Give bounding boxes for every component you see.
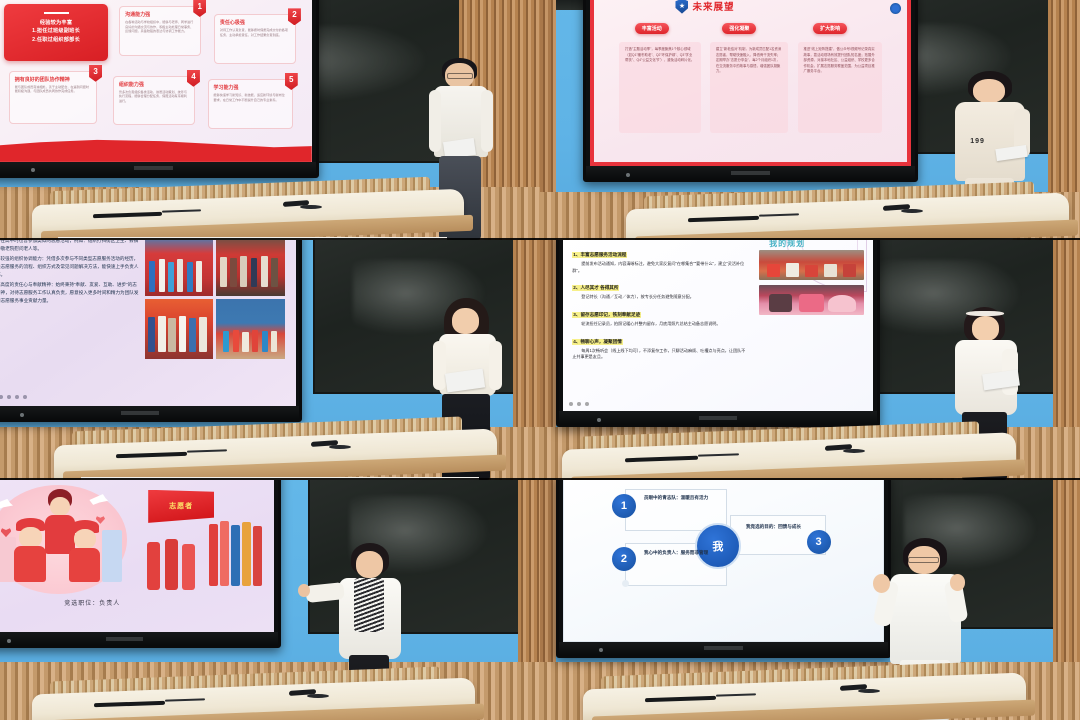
video-grid-stage: 经验较为丰富 1.担任过班级副班长 2.任职过组织部部长 1 沟通能力强 在各种… [0, 0, 1080, 720]
podium-1 [32, 182, 464, 240]
plan-heading-4: 4、畅聊心声，凝聚团情 [572, 339, 623, 345]
badge-rule [44, 12, 69, 14]
slide-header: ★ 未来展望 [675, 0, 734, 14]
outlook-pill-2: 强化凝聚 [722, 23, 756, 34]
display-screen-6[interactable]: 1 2 3 我 员眼中的青志队：温暖且有活力 我心中的负责人：服务而非管理 我竞… [556, 480, 891, 658]
card-title-5: 学习能力强 [214, 84, 287, 91]
head [356, 551, 383, 578]
card-title-1: 沟通能力强 [125, 11, 195, 18]
slide-toolbar[interactable] [0, 395, 27, 399]
slide-title-2: 未来展望 [692, 0, 734, 13]
capability-card-5: 5 学习能力强 能够快速学习新知识、新技能，适应新环境与新岗位要求，在日常工作中… [208, 79, 293, 129]
plan-body-1: 提前发布活动通知，内容清晰标注，避免大家反复问"在哪集合""要带什么"，建立"灵… [572, 261, 749, 274]
plan-body-2: 登记特长（沟通／互动／体力），按专长分任务避免随意分配。 [572, 294, 749, 301]
card-title-4: 组织能力强 [119, 81, 189, 88]
head [452, 308, 479, 334]
paragraph-3: 高度的责任心与奉献精神：始终秉持"奉献、友爱、互助、进步"的志愿精神，对待志愿服… [0, 281, 140, 305]
diagram-label-1: 员眼中的青志队：温暖且有活力 [644, 494, 708, 502]
position-caption: 竞选职位：负责人 [64, 598, 120, 607]
podium-5 [32, 672, 475, 720]
outlook-pill-1: 丰富活动 [635, 23, 669, 34]
badge-heading: 经验较为丰富 [8, 19, 104, 27]
card-body-2: 对待工作认真负责，能够按时保质完成交付的各项任务，主动承担责任，对工作结果负责到… [220, 28, 290, 37]
display-screen-3[interactable]: 在高中时也曾参加类似的志愿活动，例如：组织打扫街区卫生、去镇上的敬老院慰问老人等… [0, 240, 302, 422]
screen-bezel-5 [0, 632, 278, 645]
video-panel-2[interactable]: ★ 未来展望 丰富活动 强化凝聚 扩大影响 打造"主题活动季"，每季度聚焦1个核… [540, 0, 1080, 240]
slide-circle-diagram: 1 2 3 我 员眼中的青志队：温暖且有活力 我心中的负责人：服务而非管理 我竞… [563, 480, 884, 642]
outlook-column-2: 建立"新老结对"机制，为新成员匹配1名资深志愿者，帮助快速融入，降低骨干流失率；… [710, 42, 788, 133]
arm-left [429, 90, 441, 151]
volunteer-illustration [0, 480, 136, 599]
screen-bezel-2 [586, 166, 915, 179]
experience-badge: 经验较为丰富 1.担任过班级副班长 2.任职过组织部部长 [4, 4, 108, 60]
podium-3 [54, 422, 497, 480]
card-title-2: 责任心极强 [220, 19, 290, 26]
toolbar-icon-3[interactable] [585, 402, 589, 406]
screen-indicator-icon [599, 648, 603, 652]
plan-photo-2 [759, 285, 865, 315]
capability-card-3: 3 拥有良好的团队协作精神 能与团队成员真诚相处，善于主动配合，在遇到问题时能积… [9, 71, 97, 124]
diagram-node-3: 3 [807, 530, 831, 554]
capability-card-4: 4 组织能力强 曾多次负责组织各类活动，熟悉活动策划、统筹与执行流程，能够合理分… [113, 76, 195, 126]
display-screen-5[interactable]: 助力与成长共进 [0, 480, 281, 648]
outlook-column-1: 打造"主题活动季"，每季度聚焦1个核心领域（如Q1"暖冬助老"、Q2"环保护绿"… [619, 42, 700, 133]
toolbar-icon-2[interactable] [577, 402, 581, 406]
screen-bezel-3 [0, 406, 299, 419]
video-panel-6[interactable]: 1 2 3 我 员眼中的青志队：温暖且有活力 我心中的负责人：服务而非管理 我竞… [540, 480, 1080, 720]
screen-indicator-icon [597, 418, 601, 422]
card-body-3: 能与团队成员真诚相处，善于主动配合，在遇到问题时能积极沟通，与团队成员共同协作完… [15, 85, 91, 94]
clicker-button-icon [329, 445, 351, 449]
slide-illustration-cover: 助力与成长共进 [0, 480, 274, 632]
podium-6 [583, 667, 1026, 720]
crowd-group-right [208, 516, 268, 589]
screen-indicator-icon [626, 173, 630, 177]
slide-future-outlook: ★ 未来展望 丰富活动 强化凝聚 扩大影响 打造"主题活动季"，每季度聚焦1个核… [590, 0, 911, 166]
photo-4 [216, 299, 284, 359]
toolbar-icon-4[interactable] [15, 395, 19, 399]
display-screen-1[interactable]: 经验较为丰富 1.担任过班级副班长 2.任职过组织部部长 1 沟通能力强 在各种… [0, 0, 319, 178]
diagram-node-1: 1 [612, 494, 636, 518]
head [972, 316, 999, 341]
toolbar-icon-5[interactable] [23, 395, 27, 399]
card-body-1: 在各种活动与学校组织中，能够与老师、同学进行良好的沟通交流与协作，积极主动处理日… [125, 20, 195, 34]
video-panel-5[interactable]: 助力与成长共进 [0, 480, 540, 720]
corner-badge-icon [890, 3, 901, 14]
outlook-text-1: 打造"主题活动季"，每季度聚焦1个核心领域（如Q1"暖冬助老"、Q2"环保护绿"… [625, 47, 694, 64]
arm-right [489, 341, 502, 390]
arm-left [433, 341, 446, 390]
glasses-icon [908, 557, 939, 563]
toolbar-icon-2[interactable] [0, 395, 3, 399]
hand-pointing [298, 584, 310, 597]
photo-1 [145, 240, 213, 296]
paragraph-2: 较强的组织协调能力：凭借多次参与不同类型志愿服务活动的经历，熟悉志愿服务的流程、… [0, 255, 140, 279]
outlook-column-3: 推进"线上矩阵搭建"，做公众号/视频号记录真实故事，靠活动现场有效提升团队知名度… [798, 42, 882, 133]
badge-line-1: 1.担任过班级副班长 [8, 27, 104, 35]
slide-area-1: 经验较为丰富 1.担任过班级副班长 2.任职过组织部部长 1 沟通能力强 在各种… [0, 0, 312, 162]
slide-toolbar[interactable] [569, 402, 589, 406]
screen-indicator-icon [7, 639, 11, 643]
photo-3 [145, 299, 213, 359]
slide-text-photos: 在高中时也曾参加类似的志愿活动，例如：组织打扫街区卫生、去镇上的敬老院慰问老人等… [0, 240, 296, 406]
slide-body-text: 在高中时也曾参加类似的志愿活动，例如：组织打扫街区卫生、去镇上的敬老院慰问老人等… [0, 240, 140, 307]
photo-2 [216, 240, 284, 296]
panel-grid: 经验较为丰富 1.担任过班级副班长 2.任职过组织部部长 1 沟通能力强 在各种… [0, 0, 1080, 720]
plan-heading-3: 3、留存志愿印记，铁刻奉献足迹 [572, 312, 641, 318]
striped-scarf [354, 578, 385, 632]
plan-heading-2: 2、人尽其才 各得其所 [572, 285, 619, 291]
badge-line-2: 2.任职过组织部部长 [8, 36, 104, 44]
video-panel-3[interactable]: 在高中时也曾参加类似的志愿活动，例如：组织打扫街区卫生、去镇上的敬老院慰问老人等… [0, 240, 540, 480]
head [973, 79, 1005, 103]
plan-body-4: 每周1次畅听会（线上线下均可），不添复杂工作，只聊活动麻烦、吐槽点与亮点，让团队… [572, 348, 749, 361]
podium-2 [626, 187, 1069, 240]
plan-heading-1: 1、丰富志愿服务活动流程 [572, 252, 627, 258]
slide-capability-cards: 经验较为丰富 1.担任过班级副班长 2.任职过组织部部长 1 沟通能力强 在各种… [0, 0, 312, 162]
outlook-text-2: 建立"新老结对"机制，为新成员匹配1名资深志愿者，帮助快速融入，降低骨干流失率；… [716, 47, 782, 75]
toolbar-icon-3[interactable] [7, 395, 11, 399]
capability-card-2: 2 责任心极强 对待工作认真负责，能够按时保质完成交付的各项任务，主动承担责任，… [214, 14, 296, 64]
diagram-label-2: 我心中的负责人：服务而非管理 [644, 549, 708, 557]
plan-list: 1、丰富志愿服务活动流程 提前发布活动通知，内容清晰标注，避免大家反复问"在哪集… [572, 243, 749, 363]
toolbar-icon-1[interactable] [569, 402, 573, 406]
diagram-label-3: 我竞选的目的：回馈与成长 [746, 523, 801, 531]
illustration-person-left [13, 518, 47, 582]
arm-right [481, 90, 493, 151]
shield-star-icon: ★ [675, 0, 688, 14]
glasses-icon [447, 73, 473, 79]
screen-bezel-6 [559, 642, 888, 655]
podium-4 [562, 427, 1016, 480]
card-title-3: 拥有良好的团队协作精神 [15, 76, 91, 83]
screen-bezel-4 [559, 411, 877, 424]
outlook-text-3: 推进"线上矩阵搭建"，做公众号/视频号记录真实故事，靠活动现场有效提升团队知名度… [804, 47, 876, 75]
slide-area-5: 助力与成长共进 [0, 480, 274, 632]
plan-photo-1 [759, 250, 865, 280]
display-screen-4[interactable]: 我的规划 1、丰富志愿服务活动流程 提前发布活动通知，内容清晰标注，避免大家反复… [556, 240, 880, 427]
capability-card-1: 1 沟通能力强 在各种活动与学校组织中，能够与老师、同学进行良好的沟通交流与协作… [119, 6, 201, 56]
plan-body-3: 轮流担任记录员，拍照记暖心并整内留存，月底用照片总结主动备志愿说明。 [572, 321, 749, 328]
diagram-decor-dot [622, 580, 629, 587]
display-screen-2[interactable]: ★ 未来展望 丰富活动 强化凝聚 扩大影响 打造"主题活动季"，每季度聚焦1个核… [583, 0, 918, 182]
screen-bezel-1 [0, 162, 316, 175]
flag-crowd-group [145, 533, 199, 593]
hand-gesture-left [873, 574, 890, 593]
slide-wave [0, 134, 312, 162]
outlook-pill-3: 扩大影响 [813, 23, 847, 34]
slide-area-2: ★ 未来展望 丰富活动 强化凝聚 扩大影响 打造"主题活动季"，每季度聚焦1个核… [590, 0, 911, 166]
screen-indicator-icon [20, 413, 24, 417]
slide-area-4: 我的规划 1、丰富志愿服务活动流程 提前发布活动通知，内容清晰标注，避免大家反复… [563, 240, 873, 411]
volunteer-flag: 志愿者 [148, 490, 214, 523]
illustration-person-right [68, 520, 102, 582]
clicker-button-icon [300, 205, 322, 209]
slide-area-6: 1 2 3 我 员眼中的青志队：温暖且有活力 我心中的负责人：服务而非管理 我竞… [563, 480, 884, 642]
building-right-icon [102, 530, 122, 583]
card-body-5: 能够快速学习新知识、新技能，适应新环境与新岗位要求，在日常工作中不断提升自己的专… [214, 93, 287, 102]
video-panel-4[interactable]: 我的规划 1、丰富志愿服务活动流程 提前发布活动通知，内容清晰标注，避免大家反复… [540, 240, 1080, 480]
hand-gesture-right [950, 574, 966, 591]
slide-title-4: 我的规划 [769, 240, 805, 249]
jacket-print-label: 199 [970, 138, 985, 145]
plan-photos [759, 250, 865, 320]
screen-indicator-icon [31, 168, 35, 172]
photo-collage [145, 240, 285, 359]
slide-area-3: 在高中时也曾参加类似的志愿活动，例如：组织打扫街区卫生、去镇上的敬老院慰问老人等… [0, 240, 296, 406]
paragraph-1: 在高中时也曾参加类似的志愿活动，例如：组织打扫街区卫生、去镇上的敬老院慰问老人等… [0, 240, 140, 253]
card-body-4: 曾多次负责组织各类活动，熟悉活动策划、统筹与执行流程，能够合理分配任务，保障活动… [119, 90, 189, 104]
video-panel-1[interactable]: 经验较为丰富 1.担任过班级副班长 2.任职过组织部部长 1 沟通能力强 在各种… [0, 0, 540, 240]
diagram-hub: 我 [695, 523, 741, 569]
slide-my-plan: 我的规划 1、丰富志愿服务活动流程 提前发布活动通知，内容清晰标注，避免大家反复… [563, 240, 873, 411]
